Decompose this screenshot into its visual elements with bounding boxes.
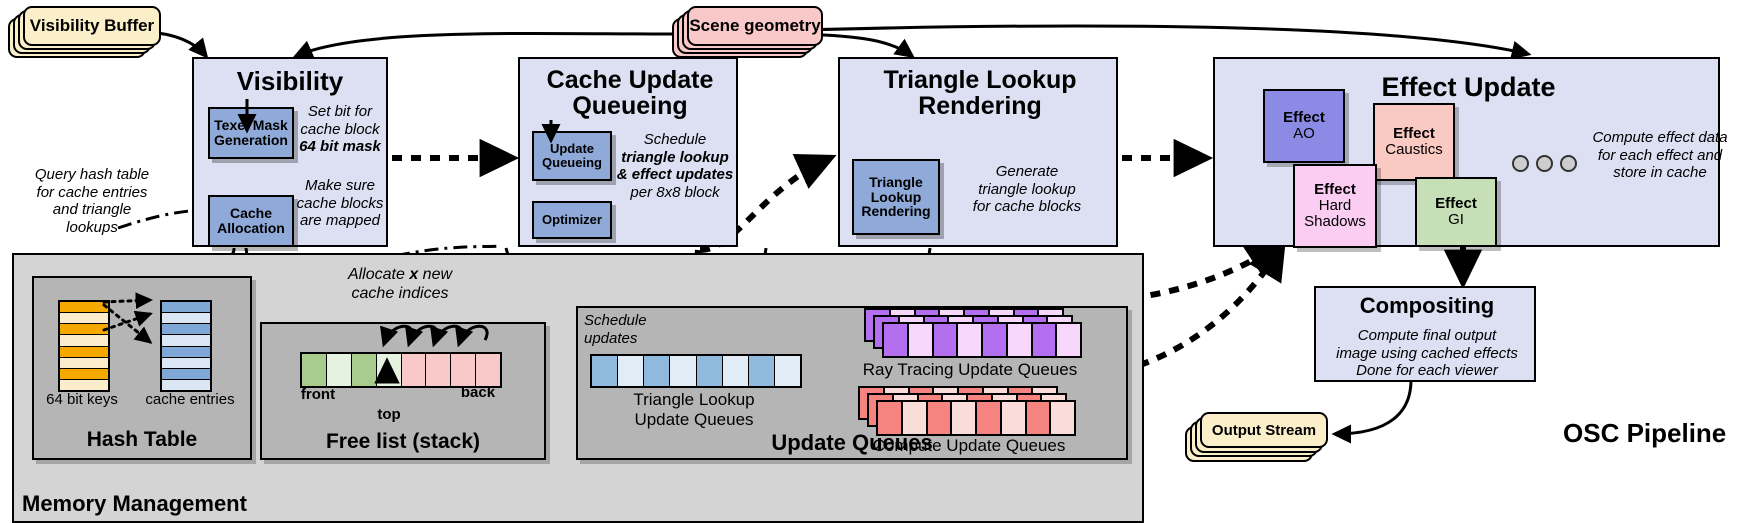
effect-update-note: Compute effect data for each effect and … [1575,129,1745,182]
visibility-note-2: Make sure cache blocks are mapped [294,177,386,230]
query-hash-table-text: Query hash tablefor cache entriesand tri… [6,166,178,237]
triangle-lookup-rendering-box[interactable]: Triangle Lookup Rendering [852,159,940,235]
visibility-buffer-card: Visibility Buffer [23,6,161,46]
output-stream-card: Output Stream [1200,412,1328,448]
hash-cache-entries-label: cache entries [134,391,246,408]
hash-keys-strip [58,300,110,392]
ray-tracing-queue-stack [864,308,1080,358]
effect-ao-head: Effect [1283,110,1325,126]
effect-card-ao[interactable]: Effect AO [1263,89,1345,163]
cache-update-queueing-note: Schedule triangle lookup & effect update… [612,131,738,202]
cache-allocation-box[interactable]: Cache Allocation [208,195,294,247]
effect-caustics-head: Effect [1393,126,1435,142]
pipeline-footer-label: OSC Pipeline [1563,418,1726,449]
free-list-title: Free list (stack) [262,430,544,454]
effect-card-hard-shadows[interactable]: Effect HardShadows [1293,164,1377,248]
update-queueing-box[interactable]: Update Queueing [532,131,612,181]
output-stream-card-stack: Output Stream [1185,412,1345,468]
effect-hard-shadows-name: HardShadows [1304,198,1366,230]
allocate-cache-indices-note: Allocate x new cache indices [290,266,510,304]
stage-effect-update: Effect Update Effect AO Effect Caustics … [1213,57,1720,247]
free-list-cells [300,352,502,388]
cache-update-queueing-title: Cache Update Queueing [520,67,740,120]
hash-keys-label: 64 bit keys [34,391,130,408]
compositing-title: Compositing [1316,294,1538,317]
osc-pipeline-diagram: Visibility Buffer Scene geometry Visibil… [0,0,1752,521]
effect-hard-shadows-head: Effect [1314,182,1356,198]
triangle-lookup-rendering-note: Generate triangle lookup for cache block… [942,163,1112,216]
triangle-lookup-queue-label: Triangle Lookup Update Queues [578,390,810,431]
free-list-panel: Free list (stack) front top back [260,322,546,460]
effect-gi-name: GI [1448,212,1464,228]
hash-cache-entries-strip [160,300,212,392]
stage-triangle-lookup-rendering: Triangle Lookup Rendering Triangle Looku… [838,57,1118,247]
triangle-lookup-queue-cells [590,354,802,388]
stage-visibility: Visibility Texel Mask Generation Cache A… [192,57,388,247]
free-list-front-label: front [288,386,348,403]
schedule-updates-note: Schedule updates [584,312,680,347]
ray-tracing-sheet-1 [882,322,1082,358]
compute-queue-stack [858,386,1074,436]
optimizer-box[interactable]: Optimizer [532,201,612,239]
texel-mask-generation-box[interactable]: Texel Mask Generation [208,107,294,159]
compute-queue-label: Compute Update Queues [828,436,1110,456]
effect-gi-head: Effect [1435,196,1477,212]
hash-table-panel: Hash Table 64 bit keys cache entries [32,276,252,460]
compute-sheet-1 [876,400,1076,436]
scene-geometry-card-stack: Scene geometry [672,6,822,60]
effect-caustics-name: Caustics [1385,142,1443,158]
scene-geometry-card: Scene geometry [687,6,823,46]
free-list-top-label: top [362,406,416,423]
effect-ellipsis-dots [1512,155,1577,172]
stage-compositing: Compositing Compute final output image u… [1314,286,1536,382]
compositing-note: Compute final output image using cached … [1319,327,1535,380]
visibility-buffer-card-stack: Visibility Buffer [8,6,158,58]
triangle-lookup-rendering-title: Triangle Lookup Rendering [840,67,1120,120]
ellipsis-dot-1 [1512,155,1529,172]
hash-table-title: Hash Table [34,428,250,452]
visibility-note-1: Set bit for cache block 64 bit mask [294,103,386,156]
ellipsis-dot-2 [1536,155,1553,172]
stage-cache-update-queueing: Cache Update Queueing Update Queueing Op… [518,57,738,247]
ray-tracing-queue-label: Ray Tracing Update Queues [834,360,1106,380]
effect-card-gi[interactable]: Effect GI [1415,177,1497,247]
visibility-title: Visibility [194,68,386,95]
effect-card-caustics[interactable]: Effect Caustics [1373,103,1455,181]
update-queues-panel: Update Queues Schedule updates Triangle … [576,306,1128,460]
memory-management-title: Memory Management [22,491,247,517]
effect-ao-name: AO [1293,126,1315,142]
free-list-back-label: back [450,384,506,401]
